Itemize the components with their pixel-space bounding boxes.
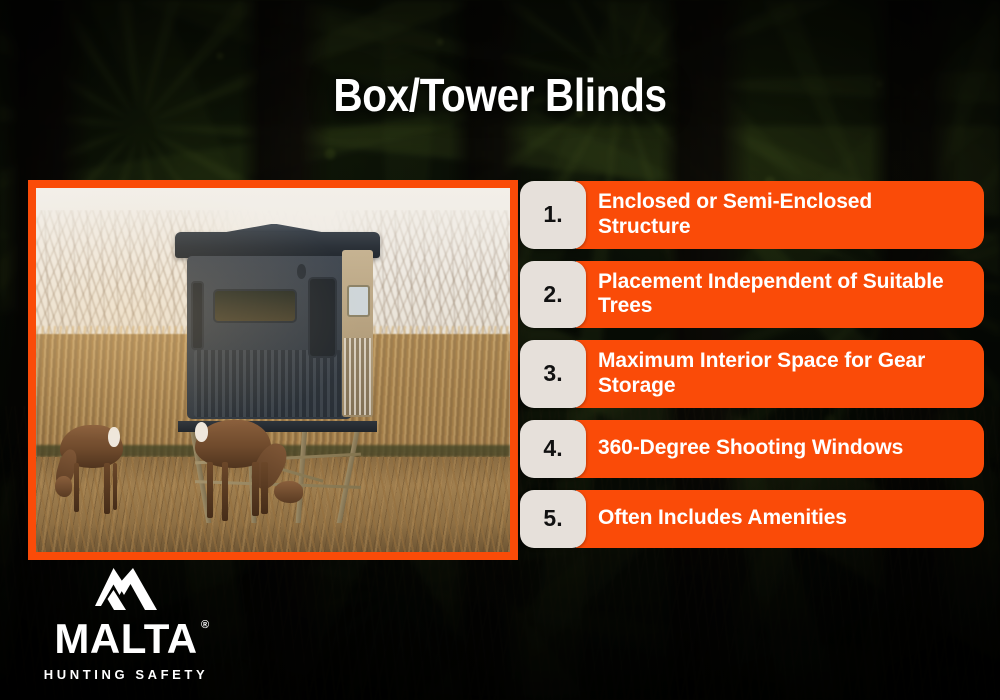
logo-wordmark-text: MALTA bbox=[54, 615, 197, 662]
list-item[interactable]: 4. 360-Degree Shooting Windows bbox=[520, 420, 984, 478]
list-item-number: 4. bbox=[543, 435, 562, 462]
logo-tagline: HUNTING SAFETY bbox=[44, 667, 209, 682]
list-item-number: 2. bbox=[543, 281, 562, 308]
malta-logo[interactable]: MALTA ® HUNTING SAFETY bbox=[36, 568, 216, 682]
list-item[interactable]: 1. Enclosed or Semi-Enclosed Structure bbox=[520, 181, 984, 249]
list-item-number-badge: 5. bbox=[520, 490, 586, 548]
list-item-number: 3. bbox=[543, 360, 562, 387]
list-item-bar[interactable]: Placement Independent of Suitable Trees bbox=[576, 261, 984, 329]
list-item[interactable]: 5. Often Includes Amenities bbox=[520, 490, 984, 548]
list-item-bar[interactable]: Enclosed or Semi-Enclosed Structure bbox=[576, 181, 984, 249]
list-item-number-badge: 4. bbox=[520, 420, 586, 478]
registered-trademark-icon: ® bbox=[201, 620, 210, 631]
logo-wordmark: MALTA ® bbox=[54, 618, 197, 660]
list-item-label: Enclosed or Semi-Enclosed Structure bbox=[598, 190, 968, 240]
list-item-label: Placement Independent of Suitable Trees bbox=[598, 270, 968, 320]
list-item[interactable]: 3. Maximum Interior Space for Gear Stora… bbox=[520, 340, 984, 408]
list-item-bar[interactable]: Maximum Interior Space for Gear Storage bbox=[576, 340, 984, 408]
list-item-number-badge: 1. bbox=[520, 181, 586, 249]
list-item-bar[interactable]: 360-Degree Shooting Windows bbox=[576, 420, 984, 478]
list-item-number: 1. bbox=[543, 201, 562, 228]
list-item-number-badge: 3. bbox=[520, 340, 586, 408]
page-title: Box/Tower Blinds bbox=[60, 68, 940, 122]
feature-list: 1. Enclosed or Semi-Enclosed Structure 2… bbox=[520, 181, 984, 560]
list-item-label: 360-Degree Shooting Windows bbox=[598, 436, 903, 461]
mountain-m-icon bbox=[95, 568, 157, 614]
list-item-label: Often Includes Amenities bbox=[598, 506, 847, 531]
list-item-number: 5. bbox=[543, 505, 562, 532]
list-item-label: Maximum Interior Space for Gear Storage bbox=[598, 349, 968, 399]
infographic-poster: Box/Tower Blinds bbox=[0, 0, 1000, 700]
hero-photo-card bbox=[28, 180, 518, 560]
list-item[interactable]: 2. Placement Independent of Suitable Tre… bbox=[520, 261, 984, 329]
list-item-bar[interactable]: Often Includes Amenities bbox=[576, 490, 984, 548]
photo-sunlight-overlay bbox=[36, 188, 510, 552]
hunting-blind-photo bbox=[36, 188, 510, 552]
list-item-number-badge: 2. bbox=[520, 261, 586, 329]
